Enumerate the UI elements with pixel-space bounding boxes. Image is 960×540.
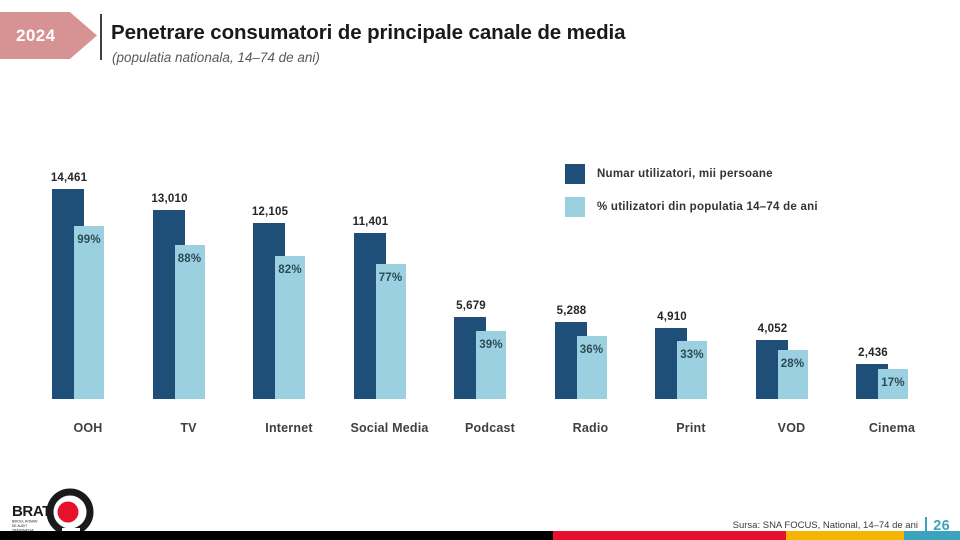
bar-value-label: 5,288: [541, 305, 603, 317]
category-axis-label: Internet: [235, 421, 343, 435]
svg-text:BIROUL ROMAN: BIROUL ROMAN: [12, 520, 38, 524]
bar-group: 5,28836%Radio: [541, 0, 641, 460]
footer-bar-segment: [904, 531, 960, 540]
bar-chart-plot: 14,46199%OOH13,01088%TV12,10582%Internet…: [0, 0, 960, 460]
slide-canvas: 2024 Penetrare consumatori de principale…: [0, 0, 960, 540]
category-axis-label: VOD: [738, 421, 846, 435]
category-axis-label: Social Media: [336, 421, 444, 435]
bar-percent-label: 99%: [74, 234, 104, 246]
footer-bar-segment: [786, 531, 904, 540]
bar-value-label: 12,105: [239, 206, 301, 218]
bar-percent-label: 36%: [577, 344, 607, 356]
bar-users-percent[interactable]: [376, 264, 406, 399]
bar-users-percent[interactable]: [175, 245, 205, 399]
bar-group: 4,91033%Print: [641, 0, 741, 460]
category-axis-label: OOH: [34, 421, 142, 435]
svg-text:DE AUDIT: DE AUDIT: [12, 524, 27, 528]
bar-value-label: 2,436: [842, 347, 904, 359]
brat-logo-mark: BRAT BIROUL ROMAN DE AUDIT TRANSMEDIA: [10, 488, 106, 534]
bar-percent-label: 88%: [175, 253, 205, 265]
bar-percent-label: 82%: [275, 264, 305, 276]
bar-percent-label: 17%: [878, 377, 908, 389]
bar-group: 12,10582%Internet: [239, 0, 339, 460]
category-axis-label: TV: [135, 421, 243, 435]
bar-group: 14,46199%OOH: [38, 0, 138, 460]
bar-value-label: 4,052: [742, 323, 804, 335]
bar-value-label: 4,910: [641, 311, 703, 323]
category-axis-label: Radio: [537, 421, 645, 435]
category-axis-label: Podcast: [436, 421, 544, 435]
bar-value-label: 11,401: [340, 216, 402, 228]
bar-percent-label: 77%: [376, 272, 406, 284]
bar-users-percent[interactable]: [275, 256, 305, 399]
bar-percent-label: 39%: [476, 339, 506, 351]
category-axis-label: Cinema: [838, 421, 946, 435]
bar-group: 2,43617%Cinema: [842, 0, 942, 460]
bar-group: 4,05228%VOD: [742, 0, 842, 460]
bar-value-label: 13,010: [139, 193, 201, 205]
svg-text:BRAT: BRAT: [12, 503, 51, 520]
bar-percent-label: 33%: [677, 349, 707, 361]
bar-value-label: 5,679: [440, 300, 502, 312]
bar-value-label: 14,461: [38, 172, 100, 184]
bar-percent-label: 28%: [778, 358, 808, 370]
bar-group: 5,67939%Podcast: [440, 0, 540, 460]
footer-bar-segment: [553, 531, 786, 540]
bar-users-percent[interactable]: [74, 226, 104, 399]
category-axis-label: Print: [637, 421, 745, 435]
footer-color-bar: [0, 531, 960, 540]
footer-source-note: Sursa: SNA FOCUS, National, 14–74 de ani: [733, 520, 918, 531]
footer-bar-segment: [0, 531, 553, 540]
brat-logo: BRAT BIROUL ROMAN DE AUDIT TRANSMEDIA: [10, 488, 106, 534]
bar-group: 13,01088%TV: [139, 0, 239, 460]
bar-group: 11,40177%Social Media: [340, 0, 440, 460]
